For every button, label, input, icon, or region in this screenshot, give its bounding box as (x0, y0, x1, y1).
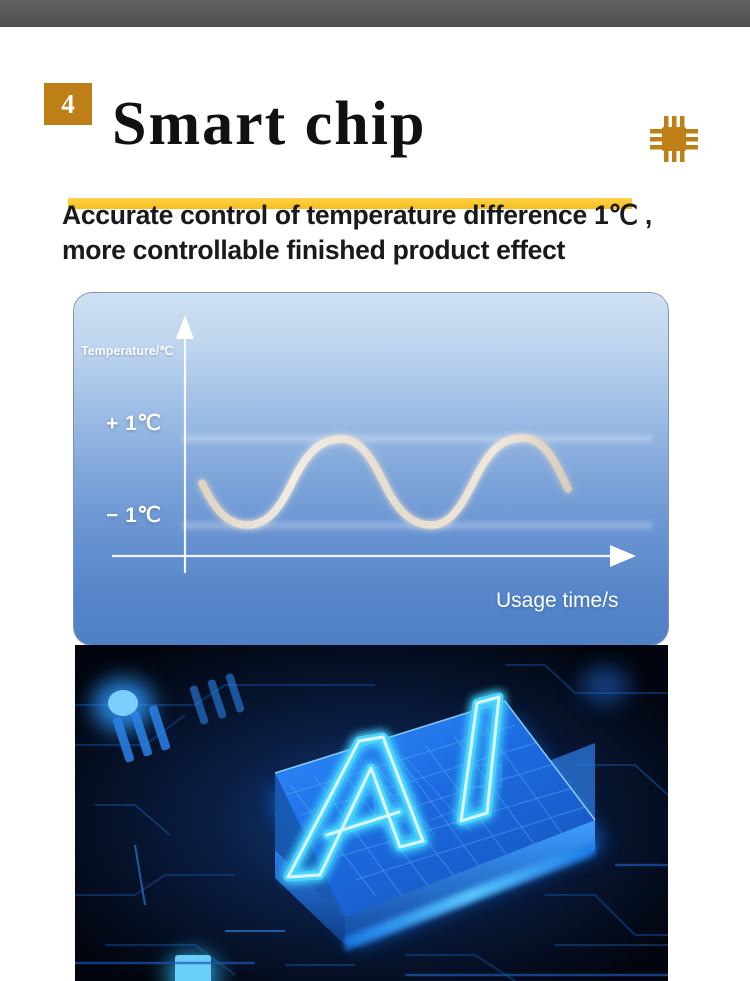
section-number-badge: 4 (44, 83, 92, 125)
temperature-chart-panel: Temperature/℃ + 1℃ − 1℃ Usage time/s (74, 293, 668, 645)
microchip-icon (648, 113, 700, 165)
ai-chip-photo (75, 645, 668, 981)
product-detail-page: 4 Smart chip (0, 0, 750, 981)
chart-x-axis-label: Usage time/s (496, 589, 619, 613)
page-title: Smart chip (112, 89, 427, 159)
subtitle-line-2: more controllable finished product effec… (62, 233, 702, 268)
ai-chip-illustration (75, 645, 668, 981)
top-gray-bar (0, 0, 750, 27)
section-header: 4 Smart chip (0, 27, 750, 197)
section-subtitle: Accurate control of temperature differen… (62, 198, 702, 268)
chart-y-tick-plus-one: + 1℃ (106, 411, 161, 436)
chart-y-axis-label: Temperature/℃ (81, 343, 173, 358)
subtitle-line-1: Accurate control of temperature differen… (62, 198, 702, 233)
top-gray-bar-fill (0, 0, 750, 27)
chart-y-tick-minus-one: − 1℃ (106, 503, 161, 528)
